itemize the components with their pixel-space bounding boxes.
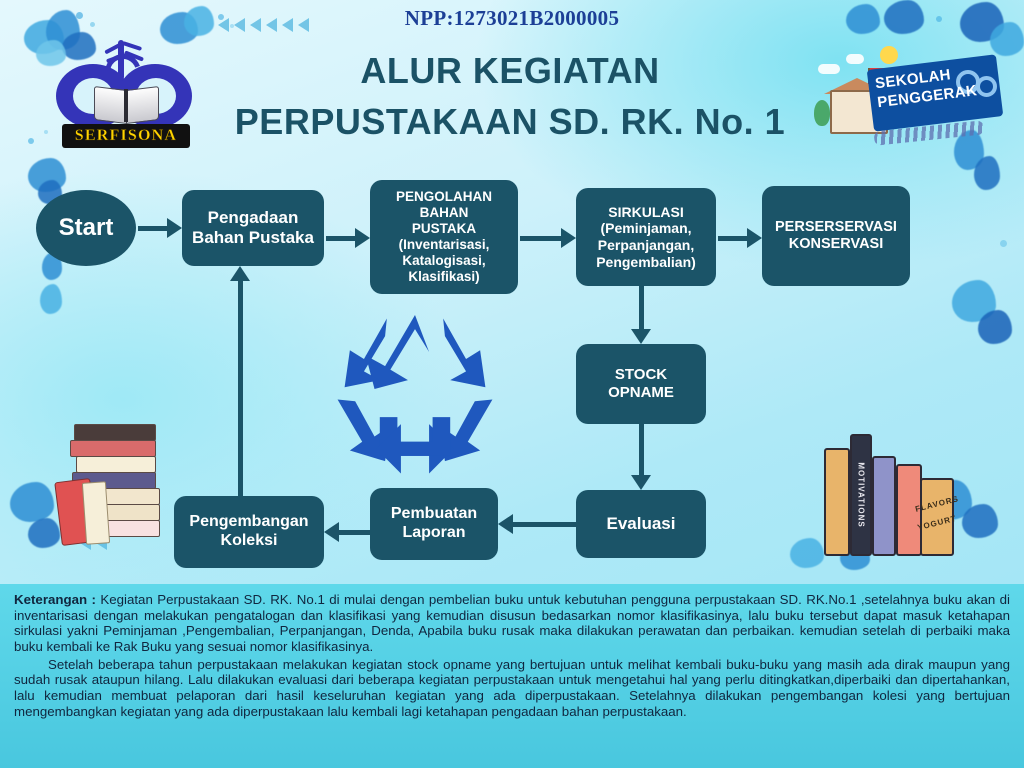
standing-books-illustration: MOTIVATIONS FLAVORS YOGURT <box>824 426 964 556</box>
floral-decoration-right-edge <box>944 120 1024 420</box>
flow-node-sirkulasi[interactable]: SIRKULASI (Peminjaman, Perpanjangan, Pen… <box>576 188 716 286</box>
caption-lead-label: Keterangan : <box>14 592 96 607</box>
flow-node-start[interactable]: Start <box>36 190 136 266</box>
book-spine <box>124 89 128 122</box>
flow-node-sirkulasi-label: SIRKULASI (Peminjaman, Perpanjangan, Pen… <box>596 204 696 270</box>
logo-leaf <box>122 41 142 51</box>
flow-node-preservasi-label: PERSERSERVASI KONSERVASI <box>775 219 897 253</box>
arrow-evaluasi-to-laporan <box>498 514 576 534</box>
title-line-1: ALUR KEGIATAN <box>190 45 830 96</box>
arrow-pengadaan-to-pengolahan <box>326 228 370 248</box>
book-item-motivations: MOTIVATIONS <box>850 434 872 556</box>
npp-number: NPP:1273021B2000005 <box>0 6 1024 31</box>
logo-name-banner: SERFISONA <box>62 124 190 148</box>
book-spine-label: MOTIVATIONS <box>857 462 866 527</box>
arrow-sirkulasi-to-stock-opname <box>631 286 651 344</box>
recycle-icon <box>322 308 508 484</box>
flow-node-pengolahan-label: PENGOLAHAN BAHAN PUSTAKA (Inventarisasi,… <box>396 189 492 285</box>
flow-node-pengolahan[interactable]: PENGOLAHAN BAHAN PUSTAKA (Inventarisasi,… <box>370 180 518 294</box>
flow-node-pembuatan-laporan-label: Pembuatan Laporan <box>391 505 477 543</box>
caption-block: Keterangan : Kegiatan Perpustakaan SD. R… <box>0 584 1024 768</box>
logo-name-text: SERFISONA <box>75 127 177 145</box>
flow-node-pengadaan-label: Pengadaan Bahan Pustaka <box>192 208 314 248</box>
book-spine-label: FLAVORS <box>914 494 959 514</box>
flow-node-pengembangan-koleksi-label: Pengembangan Koleksi <box>189 513 308 551</box>
flow-node-preservasi[interactable]: PERSERSERVASI KONSERVASI <box>762 186 910 286</box>
poster-canvas: NPP:1273021B2000005 ALUR KEGIATAN PERPUS… <box>0 0 1024 768</box>
flow-node-pembuatan-laporan[interactable]: Pembuatan Laporan <box>370 488 498 560</box>
tree-icon <box>814 100 830 126</box>
sun-icon <box>880 46 898 64</box>
book-item <box>76 456 156 473</box>
open-book-icon <box>94 88 158 122</box>
arrow-laporan-to-pengembangan <box>324 522 370 542</box>
serfisona-logo: SERFISONA <box>50 36 202 156</box>
book-item <box>70 440 156 457</box>
flow-node-pengembangan-koleksi[interactable]: Pengembangan Koleksi <box>174 496 324 568</box>
page-title: ALUR KEGIATAN PERPUSTAKAAN SD. RK. No. 1 <box>190 45 830 147</box>
caption-paragraph-1-text: Kegiatan Perpustakaan SD. RK. No.1 di mu… <box>14 592 1010 654</box>
caption-paragraph-1: Keterangan : Kegiatan Perpustakaan SD. R… <box>14 592 1010 655</box>
flow-node-stock-opname[interactable]: STOCK OPNAME <box>576 344 706 424</box>
arrow-start-to-pengadaan <box>138 218 182 238</box>
flow-node-stock-opname-label: STOCK OPNAME <box>608 366 674 401</box>
title-line-2: PERPUSTAKAAN SD. RK. No. 1 <box>190 96 830 147</box>
book-item <box>872 456 896 556</box>
book-item <box>824 448 850 556</box>
flow-node-evaluasi[interactable]: Evaluasi <box>576 490 706 558</box>
book-item-leaning-pages <box>82 481 110 545</box>
flow-node-evaluasi-label: Evaluasi <box>607 514 676 534</box>
book-item-flavors: FLAVORS YOGURT <box>920 478 954 556</box>
cloud-icon <box>846 54 864 64</box>
book-stack-illustration <box>56 424 172 548</box>
caption-paragraph-2: Setelah beberapa tahun perpustakaan mela… <box>14 657 1010 720</box>
arrow-pengembangan-to-pengadaan <box>230 266 250 496</box>
arrow-pengolahan-to-sirkulasi <box>520 228 576 248</box>
arrow-stock-opname-to-evaluasi <box>631 424 651 490</box>
flow-node-start-label: Start <box>59 214 114 242</box>
book-item <box>74 424 156 441</box>
cloud-icon <box>818 64 840 74</box>
flow-node-pengadaan[interactable]: Pengadaan Bahan Pustaka <box>182 190 324 266</box>
book-page-left <box>94 86 127 124</box>
arrow-sirkulasi-to-preservasi <box>718 228 762 248</box>
sekolah-penggerak-badge: SEKOLAH PENGGERAK <box>808 34 1008 156</box>
book-page-right <box>126 86 159 124</box>
book-spine-label-sub: YOGURT <box>916 514 957 532</box>
